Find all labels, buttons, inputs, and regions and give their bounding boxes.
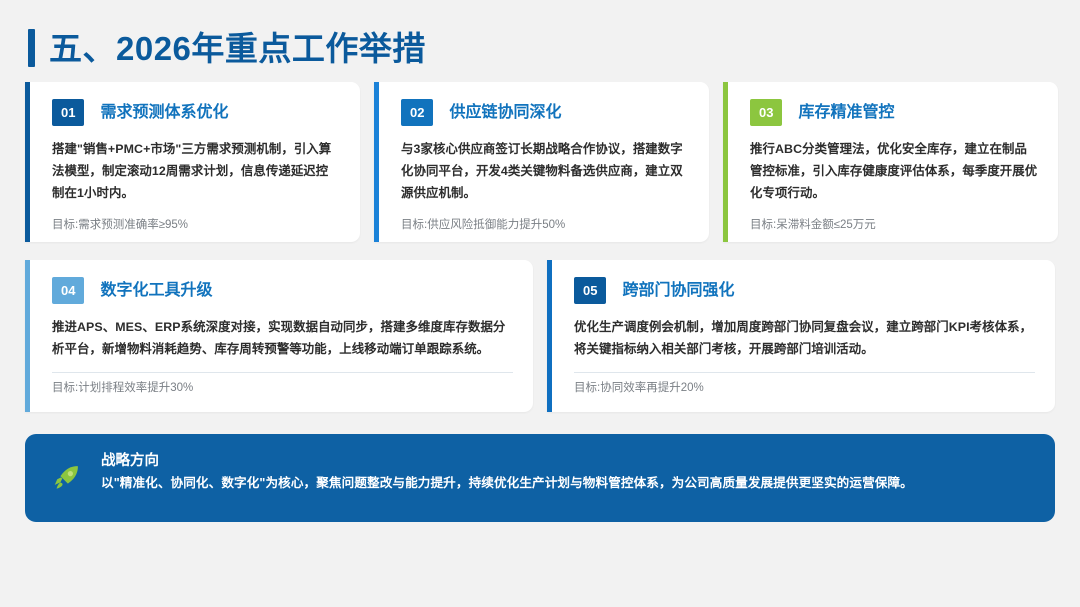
- card-05-badge: 05: [574, 277, 606, 304]
- title-accent-bar: [28, 29, 35, 67]
- card-04-goal: 目标:计划排程效率提升30%: [52, 382, 513, 396]
- card-01-goal: 目标:需求预测准确率≥95%: [52, 219, 340, 233]
- card-05-body: 优化生产调度例会机制，增加周度跨部门协同复盘会议，建立跨部门KPI考核体系，将关…: [574, 316, 1035, 366]
- banner-title: 战略方向: [101, 452, 913, 472]
- slide-root: 五、2026年重点工作举措 01 需求预测体系优化 搭建"销售+PMC+市场"三…: [0, 0, 1080, 607]
- card-03-badge: 03: [750, 99, 782, 126]
- card-02-title: 供应链协同深化: [449, 104, 561, 122]
- card-01-badge: 01: [52, 99, 84, 126]
- card-01[interactable]: 01 需求预测体系优化 搭建"销售+PMC+市场"三方需求预测机制，引入算法模型…: [25, 82, 360, 242]
- rocket-icon: [51, 463, 81, 493]
- card-03-body: 推行ABC分类管理法，优化安全库存，建立在制品管控标准，引入库存健康度评估体系，…: [750, 138, 1038, 204]
- card-05-divider: [574, 372, 1035, 373]
- card-02[interactable]: 02 供应链协同深化 与3家核心供应商签订长期战略合作协议，搭建数字化协同平台，…: [374, 82, 709, 242]
- card-03-title: 库存精准管控: [798, 104, 894, 122]
- cards-row-1: 01 需求预测体系优化 搭建"销售+PMC+市场"三方需求预测机制，引入算法模型…: [0, 72, 1080, 242]
- card-04-title: 数字化工具升级: [100, 282, 212, 300]
- card-03[interactable]: 03 库存精准管控 推行ABC分类管理法，优化安全库存，建立在制品管控标准，引入…: [723, 82, 1058, 242]
- cards-row-2: 04 数字化工具升级 推进APS、MES、ERP系统深度对接，实现数据自动同步，…: [0, 242, 1080, 412]
- card-04-divider: [52, 372, 513, 373]
- card-04-badge: 04: [52, 277, 84, 304]
- card-05-head: 05 跨部门协同强化: [574, 277, 1035, 304]
- strategy-banner: 战略方向 以"精准化、协同化、数字化"为核心，聚焦问题整改与能力提升，持续优化生…: [25, 434, 1055, 522]
- card-04[interactable]: 04 数字化工具升级 推进APS、MES、ERP系统深度对接，实现数据自动同步，…: [25, 260, 533, 412]
- banner-description: 以"精准化、协同化、数字化"为核心，聚焦问题整改与能力提升，持续优化生产计划与物…: [101, 473, 913, 495]
- card-04-body: 推进APS、MES、ERP系统深度对接，实现数据自动同步，搭建多维度库存数据分析…: [52, 316, 513, 366]
- card-05[interactable]: 05 跨部门协同强化 优化生产调度例会机制，增加周度跨部门协同复盘会议，建立跨部…: [547, 260, 1055, 412]
- page-title-text: 五、2026年重点工作举措: [49, 32, 426, 65]
- card-02-body: 与3家核心供应商签订长期战略合作协议，搭建数字化协同平台，开发4类关键物料备选供…: [401, 138, 689, 204]
- card-01-head: 01 需求预测体系优化: [52, 99, 340, 126]
- card-01-title: 需求预测体系优化: [100, 104, 228, 122]
- card-05-title: 跨部门协同强化: [622, 282, 734, 300]
- card-03-goal: 目标:呆滞料金额≤25万元: [750, 219, 1038, 233]
- banner-text-block: 战略方向 以"精准化、协同化、数字化"为核心，聚焦问题整改与能力提升，持续优化生…: [101, 450, 913, 494]
- card-01-body: 搭建"销售+PMC+市场"三方需求预测机制，引入算法模型，制定滚动12周需求计划…: [52, 138, 340, 204]
- card-04-head: 04 数字化工具升级: [52, 277, 513, 304]
- card-02-goal: 目标:供应风险抵御能力提升50%: [401, 219, 689, 233]
- card-03-head: 03 库存精准管控: [750, 99, 1038, 126]
- page-title: 五、2026年重点工作举措: [0, 0, 1080, 72]
- card-02-head: 02 供应链协同深化: [401, 99, 689, 126]
- card-05-goal: 目标:协同效率再提升20%: [574, 382, 1035, 396]
- card-02-badge: 02: [401, 99, 433, 126]
